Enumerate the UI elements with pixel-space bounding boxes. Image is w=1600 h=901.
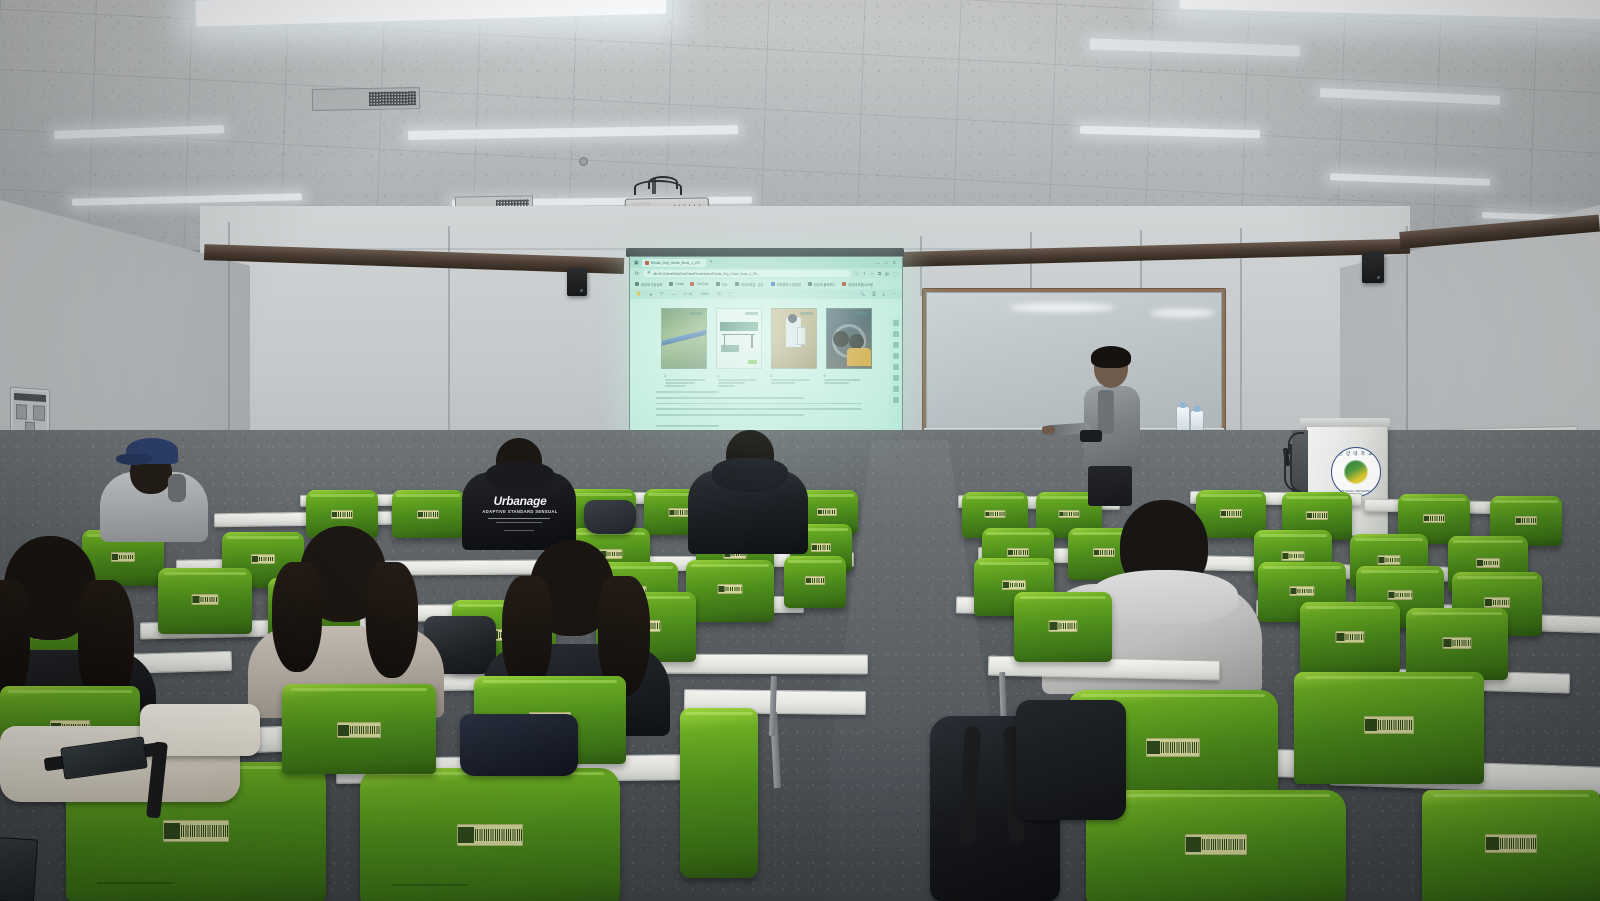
- chair-asset-tag: [1007, 548, 1029, 557]
- presenter-clicker[interactable]: [1080, 430, 1102, 442]
- jacket-subtext: ADAPTIVE STANDARD SENSUAL: [462, 509, 578, 514]
- person-student-long-hair-1: [244, 516, 446, 706]
- chair-asset-tag: [1146, 738, 1200, 757]
- chair[interactable]: [282, 684, 436, 774]
- chair-asset-tag: [337, 722, 381, 738]
- chair[interactable]: [1406, 608, 1508, 680]
- chair-asset-tag: [811, 543, 831, 552]
- light-switch-panel[interactable]: [10, 387, 50, 436]
- chair-asset-tag: [457, 824, 523, 846]
- chair-asset-tag: [1378, 555, 1401, 565]
- chair-asset-tag: [985, 510, 1006, 518]
- chair[interactable]: [360, 768, 620, 901]
- light-switch-button[interactable]: [16, 404, 28, 420]
- chair-asset-tag: [192, 594, 219, 605]
- light-switch-button[interactable]: [33, 405, 45, 421]
- chair[interactable]: [1422, 790, 1600, 901]
- chair[interactable]: [686, 560, 774, 622]
- projector-cables: [648, 176, 678, 189]
- chair-asset-tag: [1185, 834, 1247, 855]
- chair[interactable]: [1014, 592, 1112, 662]
- bottle-cap: [1194, 406, 1200, 412]
- lectern-top: [1300, 418, 1390, 427]
- jacket-print-line: [496, 522, 542, 523]
- person-presenter: [1078, 346, 1144, 504]
- presenter-shirt: [1098, 390, 1114, 434]
- person-arm: [168, 474, 186, 502]
- person-hair: [366, 562, 418, 678]
- jacket-print-line: [488, 518, 550, 519]
- jacket-brand-text: Urbanage: [462, 494, 578, 508]
- chair-asset-tag: [1515, 516, 1537, 525]
- chair[interactable]: [784, 556, 846, 608]
- presenter-hair: [1091, 346, 1131, 368]
- wall-seam: [1240, 228, 1242, 458]
- chair-asset-tag: [1290, 586, 1315, 596]
- switch-slot: [14, 393, 46, 402]
- person-hood: [712, 458, 788, 492]
- chair-asset-tag: [1423, 514, 1445, 523]
- seal-korean-text: 한 양 대 학 교: [1332, 451, 1380, 457]
- cap-brim: [116, 454, 152, 465]
- smartphone[interactable]: [0, 836, 38, 901]
- chair-asset-tag: [805, 576, 825, 585]
- chair[interactable]: [1300, 602, 1400, 674]
- podium-cable: [1290, 444, 1301, 492]
- person-student-cap: [100, 432, 212, 540]
- classroom-photo: ▣ Rivulis_Drip_Guide_Book_1_EN ... + — □…: [0, 0, 1600, 901]
- chair-asset-tag: [1443, 637, 1472, 649]
- person-student-urbanage: Urbanage ADAPTIVE STANDARD SENSUAL: [462, 430, 578, 548]
- chair-asset-tag: [1485, 834, 1537, 853]
- chair-asset-tag: [817, 508, 837, 516]
- person-hood: [486, 462, 554, 492]
- chair-asset-tag: [1306, 511, 1328, 520]
- chair-asset-tag: [669, 508, 690, 517]
- chair-asset-tag: [1049, 620, 1078, 632]
- chair-asset-tag: [1484, 597, 1510, 608]
- backpack[interactable]: [584, 500, 636, 534]
- speaker-led: [1377, 276, 1380, 279]
- chair-asset-tag: [1002, 580, 1026, 590]
- seal-emblem: [1344, 460, 1369, 485]
- person-hair: [272, 562, 322, 672]
- sprinkler-head: [580, 158, 587, 165]
- person-hair: [502, 576, 552, 692]
- chair[interactable]: [158, 568, 252, 634]
- chair-asset-tag: [1388, 590, 1413, 600]
- chair[interactable]: [1294, 672, 1484, 784]
- person-student-black-coat: [688, 424, 810, 550]
- backpack[interactable]: [460, 714, 578, 776]
- jacket-on-chair[interactable]: [1016, 700, 1126, 820]
- chair-asset-tag: [1282, 551, 1305, 561]
- chair-asset-tag: [1364, 716, 1414, 734]
- whiteboard-glare: [1150, 309, 1215, 317]
- jacket-print-line: [504, 530, 534, 531]
- wall-speaker-right: [1362, 252, 1384, 283]
- chair-asset-tag: [1336, 631, 1365, 643]
- presenter-hand: [1042, 426, 1055, 434]
- vent-grille: [369, 91, 416, 106]
- person-hood: [1090, 570, 1238, 624]
- bottle-cap: [1180, 402, 1186, 408]
- chair-asset-tag: [163, 820, 229, 842]
- chair-asset-tag: [718, 584, 743, 594]
- speaker-led: [580, 289, 583, 292]
- chair[interactable]: [680, 708, 758, 878]
- university-seal: 한 양 대 학 교 HANYANG UNIVERSITY: [1331, 447, 1381, 497]
- wall-speaker-left: [567, 268, 587, 296]
- whiteboard-glare: [1009, 303, 1115, 313]
- chair-asset-tag: [1476, 558, 1500, 568]
- air-vent: [312, 87, 420, 111]
